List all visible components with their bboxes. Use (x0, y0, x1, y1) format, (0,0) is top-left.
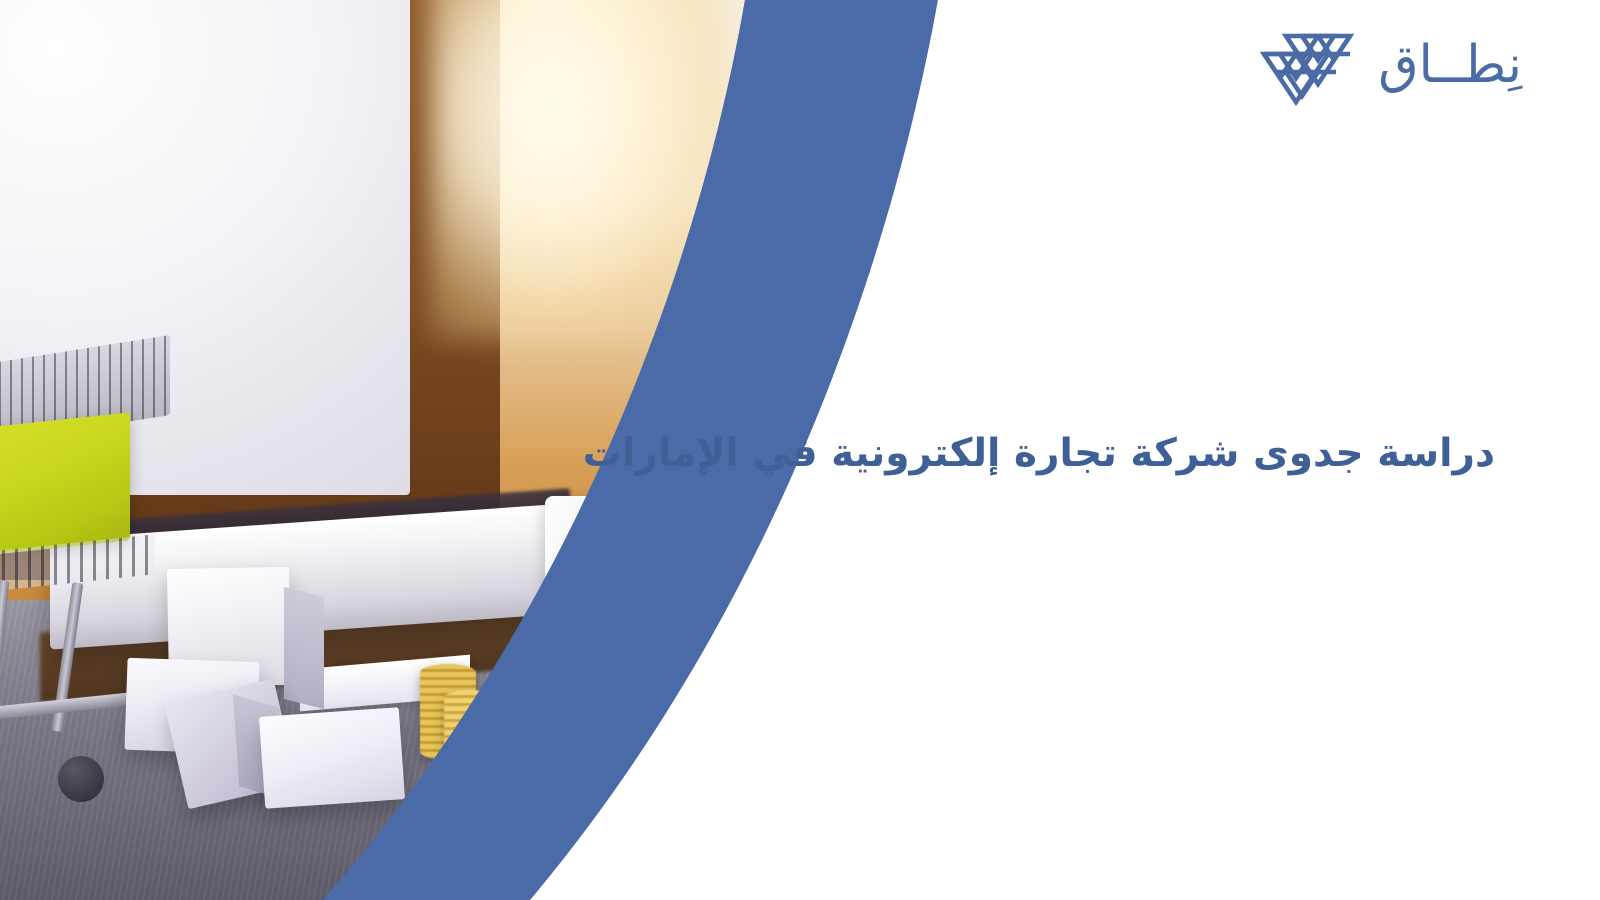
window-glare (430, 0, 730, 340)
parcel-box-side (284, 587, 324, 709)
coffee-mug-handle (612, 510, 656, 556)
brand-name: نِطــاق (1378, 39, 1522, 91)
interlocking-triangles-lattice-icon (1246, 22, 1366, 108)
gold-coin-stack-secondary-icon (444, 690, 494, 768)
brand-logo[interactable]: نِطــاق (1246, 22, 1522, 108)
slide-canvas: نِطــاق دراسة جدوى شركة تجارة إل (0, 0, 1600, 900)
shopping-cart-icon (0, 412, 130, 559)
page-title: دراسة جدوى شركة تجارة إلكترونية في الإما… (775, 428, 1495, 481)
coffee-mug-icon (545, 496, 631, 600)
parcel-box-icon (259, 707, 405, 809)
shopping-cart-wheel (58, 756, 104, 802)
